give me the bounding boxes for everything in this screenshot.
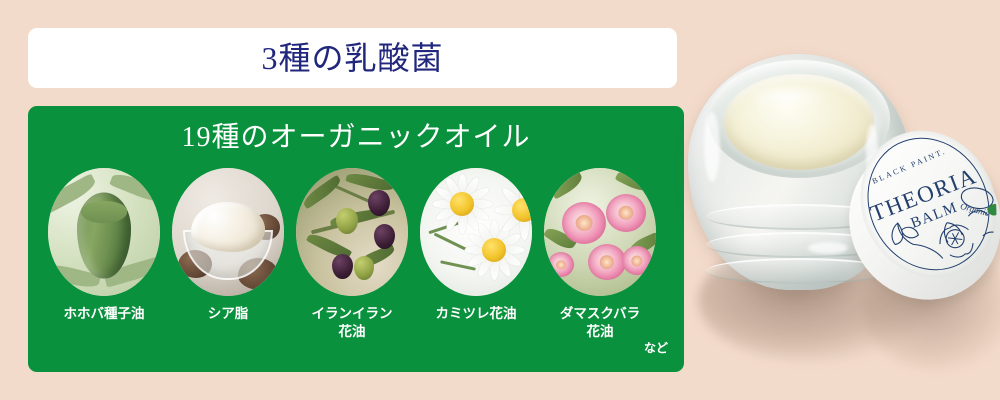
balm-highlight — [746, 84, 826, 110]
list-item: イランイラン 花油 — [296, 168, 408, 341]
oil-label: カミツレ花油 — [436, 305, 517, 323]
product-image: BLACK PAINT. THEORIA BALM Organic — [676, 44, 1000, 384]
organic-oils-panel: 19種のオーガニックオイル ホホバ種子油 — [28, 106, 684, 372]
product-banner: 3種の乳酸菌 19種のオーガニックオイル ホホバ種子油 — [0, 0, 1000, 400]
etc-label: など — [644, 342, 668, 354]
shea-butter-icon — [172, 168, 284, 296]
list-item: カミツレ花油 — [420, 168, 532, 341]
oil-label: イランイラン 花油 — [312, 305, 393, 341]
jojoba-seed-icon — [48, 168, 160, 296]
oil-label: ホホバ種子油 — [64, 305, 145, 323]
glass-highlight — [808, 242, 848, 254]
olive-branch-icon — [296, 168, 408, 296]
page-title: 3種の乳酸菌 — [261, 42, 443, 74]
oil-list: ホホバ種子油 シア脂 — [48, 168, 664, 341]
list-item: シア脂 — [172, 168, 284, 341]
list-item: ダマスクバラ 花油 — [544, 168, 656, 341]
damask-rose-icon — [544, 168, 656, 296]
chamomile-flower-icon — [420, 168, 532, 296]
title-card: 3種の乳酸菌 — [28, 28, 677, 88]
glass-highlight — [704, 112, 720, 182]
oil-label: シア脂 — [208, 305, 249, 323]
panel-heading: 19種のオーガニックオイル — [28, 124, 684, 152]
oil-label: ダマスクバラ 花油 — [560, 305, 640, 341]
list-item: ホホバ種子油 — [48, 168, 160, 341]
